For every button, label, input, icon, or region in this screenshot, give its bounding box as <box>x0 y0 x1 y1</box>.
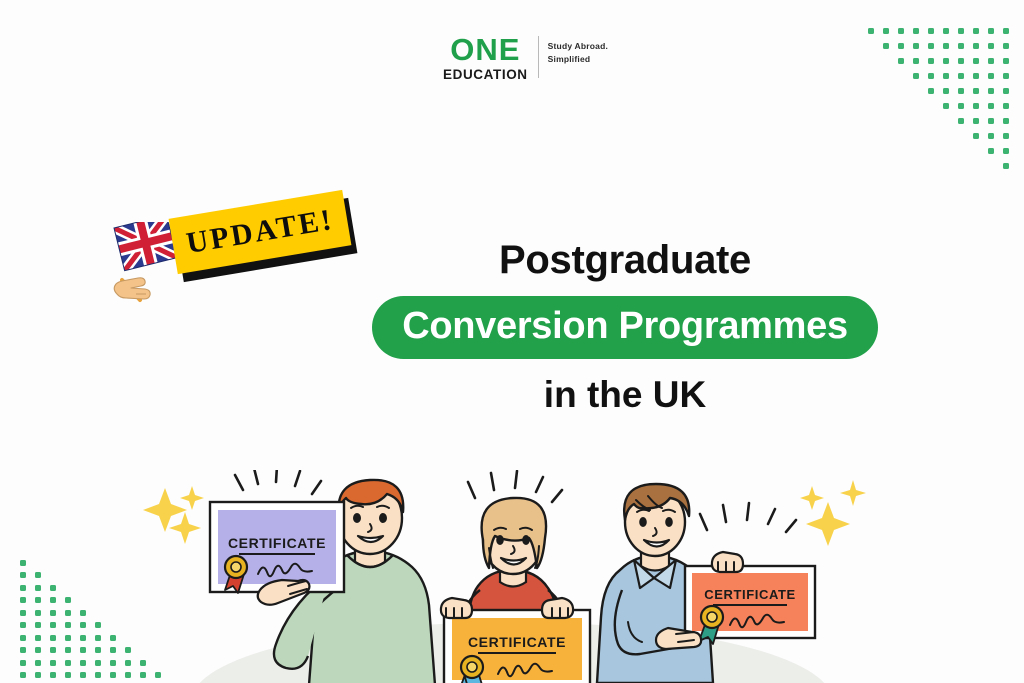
decor-dot <box>943 88 949 94</box>
decor-dot <box>883 43 889 49</box>
decor-dot <box>943 73 949 79</box>
decor-dot <box>973 43 979 49</box>
person-center: CERTIFICATE <box>441 471 590 683</box>
decor-dot <box>883 28 889 34</box>
emphasis-rays-left <box>235 470 321 494</box>
hand-icon <box>114 278 150 299</box>
update-badge: UPDATE! <box>168 196 368 296</box>
decor-dot <box>958 118 964 124</box>
decor-dot <box>928 88 934 94</box>
decor-dot <box>1003 133 1009 139</box>
decor-dot <box>913 43 919 49</box>
decor-dot <box>988 148 994 154</box>
decor-dot <box>988 88 994 94</box>
logo-one-text: ONE <box>450 34 520 65</box>
hero-illustration: .ln{stroke:#1b1b1b;stroke-width:2.4;fill… <box>0 470 1024 683</box>
certificate-right: CERTIFICATE <box>685 566 815 644</box>
decor-dot <box>913 58 919 64</box>
certificate-center-label: CERTIFICATE <box>468 634 566 650</box>
decor-dot <box>943 58 949 64</box>
seal-center <box>459 656 484 683</box>
decor-dot <box>1003 28 1009 34</box>
decor-dot <box>868 28 874 34</box>
page-title: Postgraduate Conversion Programmes in th… <box>360 238 890 416</box>
certificate-left: CERTIFICATE <box>210 502 344 593</box>
decor-dot <box>1003 73 1009 79</box>
decorative-dot-grid-top-right <box>868 28 1024 184</box>
decor-dot <box>988 133 994 139</box>
person-right: CERTIFICATE <box>597 484 815 683</box>
emphasis-rays-right <box>700 503 796 532</box>
decor-dot <box>898 28 904 34</box>
decor-dot <box>928 73 934 79</box>
decor-dot <box>943 103 949 109</box>
decor-dot <box>973 58 979 64</box>
poster-canvas: ONE EDUCATION Study Abroad. Simplified <box>0 0 1024 683</box>
decor-dot <box>928 28 934 34</box>
sparkles-right <box>800 480 866 546</box>
decor-dot <box>973 88 979 94</box>
logo-wordmark: ONE EDUCATION <box>443 34 528 82</box>
decor-dot <box>958 58 964 64</box>
tagline-line-2: Simplified <box>548 53 608 66</box>
hand-right-top <box>712 552 743 572</box>
decor-dot <box>928 58 934 64</box>
decor-dot <box>988 118 994 124</box>
decor-dot <box>958 88 964 94</box>
decor-dot <box>1003 163 1009 169</box>
decor-dot <box>973 118 979 124</box>
certificate-right-label: CERTIFICATE <box>704 587 796 602</box>
logo-divider <box>538 36 539 78</box>
decor-dot <box>973 28 979 34</box>
decor-dot <box>1003 148 1009 154</box>
decor-dot <box>988 103 994 109</box>
sparkles-left <box>143 486 204 544</box>
brand-logo[interactable]: ONE EDUCATION Study Abroad. Simplified <box>443 34 608 82</box>
title-highlight-pill: Conversion Programmes <box>372 296 878 359</box>
logo-education-text: EDUCATION <box>443 68 528 82</box>
decor-dot <box>958 43 964 49</box>
decor-dot <box>1003 58 1009 64</box>
title-line-1: Postgraduate <box>360 238 890 282</box>
decor-dot <box>973 73 979 79</box>
decor-dot <box>958 28 964 34</box>
decor-dot <box>928 43 934 49</box>
decor-dot <box>1003 88 1009 94</box>
title-line-3: in the UK <box>360 375 890 416</box>
hand-right-bottom <box>656 628 701 649</box>
tagline-line-1: Study Abroad. <box>548 40 608 53</box>
decor-dot <box>958 73 964 79</box>
decor-dot <box>898 58 904 64</box>
title-line-2: Conversion Programmes <box>402 305 848 347</box>
certificate-center: CERTIFICATE <box>444 610 590 683</box>
decor-dot <box>913 28 919 34</box>
decor-dot <box>913 73 919 79</box>
decor-dot <box>973 103 979 109</box>
decor-dot <box>988 73 994 79</box>
decor-dot <box>1003 43 1009 49</box>
decor-dot <box>943 43 949 49</box>
decor-dot <box>988 43 994 49</box>
decor-dot <box>898 43 904 49</box>
decor-dot <box>988 28 994 34</box>
decor-dot <box>988 58 994 64</box>
decor-dot <box>973 133 979 139</box>
person-left: CERTIFICATE <box>210 470 435 683</box>
logo-tagline: Study Abroad. Simplified <box>548 34 608 66</box>
decor-dot <box>1003 118 1009 124</box>
decor-dot <box>958 103 964 109</box>
certificate-left-label: CERTIFICATE <box>228 535 326 551</box>
decor-dot <box>1003 103 1009 109</box>
decor-dot <box>943 28 949 34</box>
